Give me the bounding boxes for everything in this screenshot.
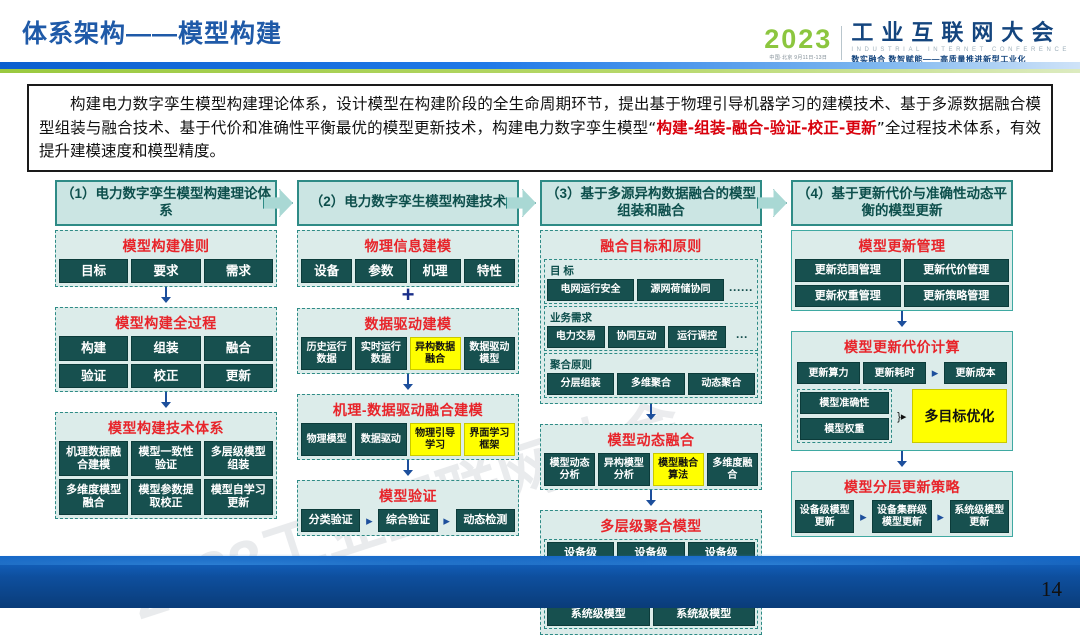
cell[interactable]: 物理模型 xyxy=(301,423,352,456)
group-mechanism-data-fusion-modeling: 机理-数据驱动融合建模 物理模型 数据驱动 物理引导学习 界面学习框架 xyxy=(297,394,519,460)
column-1-header: （1）电力数字孪生模型构建理论体系 xyxy=(55,180,277,226)
cell[interactable]: 校正 xyxy=(131,364,200,388)
diagram: 2023工业互联网 大会 （1）电力数字孪生模型构建理论体系 模型构建准则 目标… xyxy=(0,180,1080,580)
logo-year-block: 2023 中国·北京 9月11日-13日 xyxy=(764,26,832,61)
connector-arrow-down xyxy=(540,404,762,420)
connector-arrow-down xyxy=(791,451,1013,467)
cell[interactable]: 模型动态分析 xyxy=(544,453,595,486)
cell[interactable]: 更新权重管理 xyxy=(795,285,901,308)
quote-close: ” xyxy=(877,119,885,137)
logo-name-en: INDUSTRIAL INTERNET CONFERENCE xyxy=(851,47,1070,53)
cell[interactable]: 更新策略管理 xyxy=(904,285,1010,308)
section-aggregation-principles: 聚合原则 分层组装 多维聚合 动态聚合 xyxy=(544,353,758,398)
connector-arrow-down xyxy=(297,374,519,390)
cell[interactable]: 异构模型分析 xyxy=(598,453,649,486)
cell[interactable]: 动态聚合 xyxy=(688,373,755,395)
arrow-right-icon: ▸ xyxy=(929,362,941,384)
cell[interactable]: 多维聚合 xyxy=(617,373,684,395)
cell[interactable]: 多层级模型组装 xyxy=(204,441,273,476)
brace-icon: }▸ xyxy=(896,389,908,443)
cell[interactable]: 目标 xyxy=(59,259,128,283)
cell-highlighted[interactable]: 异构数据融合 xyxy=(410,337,461,370)
cell-row: 更新算力 更新耗时 ▸ 更新成本 xyxy=(797,362,1007,384)
cell-row: 设备级模型更新 ▸ 设备集群级模型更新 ▸ 系统级模型更新 xyxy=(795,500,1009,533)
cell[interactable]: 特性 xyxy=(464,259,515,283)
cost-lower-section: 模型准确性 模型权重 }▸ 多目标优化 xyxy=(797,389,1007,443)
cell-row: 机理数据融合建模 模型一致性验证 多层级模型组装 xyxy=(59,441,273,476)
cell[interactable]: 数据驱动模型 xyxy=(464,337,515,370)
arrow-right-icon: ▸ xyxy=(857,500,869,533)
cell[interactable]: 运行调控 xyxy=(668,326,726,348)
cell-row: 验证 校正 更新 xyxy=(59,364,273,388)
group-title: 物理信息建模 xyxy=(301,234,515,259)
cell[interactable]: 电网运行安全 xyxy=(547,279,634,301)
column-1: （1）电力数字孪生模型构建理论体系 模型构建准则 目标 要求 需求 模型构建全过… xyxy=(55,180,277,519)
group-title: 多层级聚合模型 xyxy=(544,514,758,539)
column-2-header: （2）电力数字孪生模型构建技术 xyxy=(297,180,519,226)
cell-row: 构建 组装 融合 xyxy=(59,336,273,360)
connector-arrow-down xyxy=(55,287,277,303)
cell-row: 多维度模型融合 模型参数提取校正 模型自学习更新 xyxy=(59,479,273,514)
cost-inputs: 模型准确性 模型权重 xyxy=(797,389,892,443)
group-title: 模型验证 xyxy=(301,484,515,509)
cell-row: 物理模型 数据驱动 物理引导学习 界面学习框架 xyxy=(301,423,515,456)
group-model-validation: 模型验证 分类验证 ▸ 综合验证 ▸ 动态检测 xyxy=(297,480,519,536)
group-title: 模型动态融合 xyxy=(544,428,758,453)
group-model-dynamic-fusion: 模型动态融合 模型动态分析 异构模型分析 模型融合算法 多维度融合 xyxy=(540,424,762,490)
group-title: 模型更新管理 xyxy=(795,234,1009,259)
cell-row: 电网运行安全 源网荷储协同 ······ xyxy=(547,279,755,301)
cell[interactable]: 融合 xyxy=(204,336,273,360)
cell-highlighted[interactable]: 模型融合算法 xyxy=(653,453,704,486)
section-label: 聚合原则 xyxy=(547,356,755,373)
group-model-criteria: 模型构建准则 目标 要求 需求 xyxy=(55,230,277,287)
cell[interactable]: 多维度融合 xyxy=(707,453,758,486)
group-model-update-management: 模型更新管理 更新范围管理 更新代价管理 更新权重管理 更新策略管理 xyxy=(791,230,1013,311)
slide: 体系架构——模型构建 2023 中国·北京 9月11日-13日 工业互联网大会 … xyxy=(0,0,1080,608)
section-goals: 目 标 电网运行安全 源网荷储协同 ······ xyxy=(544,259,758,304)
logo-year-subtitle: 中国·北京 9月11日-13日 xyxy=(769,56,827,61)
group-title: 数据驱动建模 xyxy=(301,312,515,337)
cell[interactable]: 设备 xyxy=(301,259,352,283)
group-data-driven-modeling: 数据驱动建模 历史运行数据 实时运行数据 异构数据融合 数据驱动模型 xyxy=(297,308,519,374)
cell[interactable]: 构建 xyxy=(59,336,128,360)
logo-text-block: 工业互联网大会 INDUSTRIAL INTERNET CONFERENCE 数… xyxy=(851,22,1070,64)
cell[interactable]: 需求 xyxy=(204,259,273,283)
cell[interactable]: 更新耗时 xyxy=(863,362,926,384)
cell-row: 更新权重管理 更新策略管理 xyxy=(795,285,1009,308)
cell[interactable]: 动态检测 xyxy=(456,509,515,532)
arrow-right-icon: ▸ xyxy=(363,509,375,532)
cell[interactable]: 源网荷储协同 xyxy=(637,279,724,301)
cell[interactable]: 历史运行数据 xyxy=(301,337,352,370)
logo-name-cn: 工业互联网大会 xyxy=(851,22,1070,44)
cost-body: 更新算力 更新耗时 ▸ 更新成本 模型准确性 模型权重 }▸ 多目标优化 xyxy=(795,360,1009,447)
cell-highlighted[interactable]: 物理引导学习 xyxy=(410,423,461,456)
group-physical-info-modeling: 物理信息建模 设备 参数 机理 特性 xyxy=(297,230,519,287)
description-box: 构建电力数字孪生模型构建理论体系，设计模型在构建阶段的全生命周期环节，提出基于物… xyxy=(27,84,1053,172)
multi-objective-optimization-box[interactable]: 多目标优化 xyxy=(912,389,1007,443)
group-title: 模型更新代价计算 xyxy=(795,335,1009,360)
cell[interactable]: 模型一致性验证 xyxy=(131,441,200,476)
connector-arrow-down xyxy=(791,311,1013,327)
arrow-right-icon: ▸ xyxy=(441,509,453,532)
group-title: 机理-数据驱动融合建模 xyxy=(301,398,515,423)
group-layered-update-strategy: 模型分层更新策略 设备级模型更新 ▸ 设备集群级模型更新 ▸ 系统级模型更新 xyxy=(791,471,1013,537)
cell[interactable]: 实时运行数据 xyxy=(355,337,406,370)
cell-row: 分层组装 多维聚合 动态聚合 xyxy=(547,373,755,395)
page-number: 14 xyxy=(1041,577,1062,602)
description-highlight: 构建-组装-融合-验证-校正-更新 xyxy=(656,119,876,137)
cell-row: 目标 要求 需求 xyxy=(59,259,273,283)
group-title: 模型分层更新策略 xyxy=(795,475,1009,500)
cell[interactable]: 参数 xyxy=(355,259,406,283)
group-update-cost-calculation: 模型更新代价计算 更新算力 更新耗时 ▸ 更新成本 模型准确性 模型权重 }▸ xyxy=(791,331,1013,451)
connector-arrow-down xyxy=(540,490,762,506)
cell-row: 模型动态分析 异构模型分析 模型融合算法 多维度融合 xyxy=(544,453,758,486)
cell[interactable]: 设备级模型更新 xyxy=(795,500,854,533)
header-rule-blue xyxy=(0,62,1080,69)
column-4-header: （4）基于更新代价与准确性动态平衡的模型更新 xyxy=(791,180,1013,226)
cell[interactable]: 数据驱动 xyxy=(355,423,406,456)
conference-logo: 2023 中国·北京 9月11日-13日 工业互联网大会 INDUSTRIAL … xyxy=(764,22,1070,64)
cell[interactable]: 模型自学习更新 xyxy=(204,479,273,514)
cell[interactable]: 机理数据融合建模 xyxy=(59,441,128,476)
section-label: 业务需求 xyxy=(547,309,755,326)
cell[interactable]: 模型参数提取校正 xyxy=(131,479,200,514)
ellipsis: ··· xyxy=(729,326,755,348)
cell[interactable]: 更新算力 xyxy=(797,362,860,384)
group-fusion-goals-principles: 融合目标和原则 目 标 电网运行安全 源网荷储协同 ······ 业务需求 电力… xyxy=(540,230,762,404)
cell[interactable]: 多维度模型融合 xyxy=(59,479,128,514)
footer-wave-decoration xyxy=(0,556,1080,608)
column-4: （4）基于更新代价与准确性动态平衡的模型更新 模型更新管理 更新范围管理 更新代… xyxy=(791,180,1013,537)
cell[interactable]: 分层组装 xyxy=(547,373,614,395)
column-3-header: （3）基于多源异构数据融合的模型组装和融合 xyxy=(540,180,762,226)
connector-arrow-down xyxy=(297,460,519,476)
cell-row: 设备 参数 机理 特性 xyxy=(301,259,515,283)
group-model-full-process: 模型构建全过程 构建 组装 融合 验证 校正 更新 xyxy=(55,307,277,392)
cell[interactable]: 组装 xyxy=(131,336,200,360)
connector-arrow-down xyxy=(55,392,277,408)
cell-highlighted[interactable]: 界面学习框架 xyxy=(464,423,515,456)
header-rule-green xyxy=(0,69,1080,73)
cell[interactable]: 验证 xyxy=(59,364,128,388)
section-business-needs: 业务需求 电力交易 协同互动 运行调控 ··· xyxy=(544,306,758,351)
logo-year-number: 2023 xyxy=(764,26,832,53)
group-title: 融合目标和原则 xyxy=(544,234,758,259)
cell[interactable]: 更新范围管理 xyxy=(795,259,901,282)
logo-divider xyxy=(841,26,842,60)
section-label: 目 标 xyxy=(547,262,755,279)
cell[interactable]: 协同互动 xyxy=(608,326,666,348)
cell[interactable]: 电力交易 xyxy=(547,326,605,348)
cell[interactable]: 更新成本 xyxy=(944,362,1007,384)
group-title: 模型构建全过程 xyxy=(59,311,273,336)
cell[interactable]: 模型准确性 xyxy=(800,392,889,414)
page-title: 体系架构——模型构建 xyxy=(22,14,282,50)
cell[interactable]: 更新代价管理 xyxy=(904,259,1010,282)
column-2: （2）电力数字孪生模型构建技术 物理信息建模 设备 参数 机理 特性 + 数据驱… xyxy=(297,180,519,536)
cell-row: 更新范围管理 更新代价管理 xyxy=(795,259,1009,282)
cell[interactable]: 系统级模型更新 xyxy=(950,500,1009,533)
cell[interactable]: 综合验证 xyxy=(378,509,437,532)
cell[interactable]: 更新 xyxy=(204,364,273,388)
cell-row: 电力交易 协同互动 运行调控 ··· xyxy=(547,326,755,348)
cell[interactable]: 要求 xyxy=(131,259,200,283)
arrow-right-icon: ▸ xyxy=(935,500,947,533)
group-title: 模型构建技术体系 xyxy=(59,416,273,441)
cell[interactable]: 模型权重 xyxy=(800,418,889,440)
cell[interactable]: 机理 xyxy=(410,259,461,283)
cell[interactable]: 分类验证 xyxy=(301,509,360,532)
group-title: 模型构建准则 xyxy=(59,234,273,259)
group-model-tech-system: 模型构建技术体系 机理数据融合建模 模型一致性验证 多层级模型组装 多维度模型融… xyxy=(55,412,277,519)
cell-row: 分类验证 ▸ 综合验证 ▸ 动态检测 xyxy=(301,509,515,532)
cell-row: 历史运行数据 实时运行数据 异构数据融合 数据驱动模型 xyxy=(301,337,515,370)
cell[interactable]: 设备集群级模型更新 xyxy=(872,500,931,533)
ellipsis: ······ xyxy=(727,279,755,301)
plus-symbol-icon: + xyxy=(297,287,519,304)
